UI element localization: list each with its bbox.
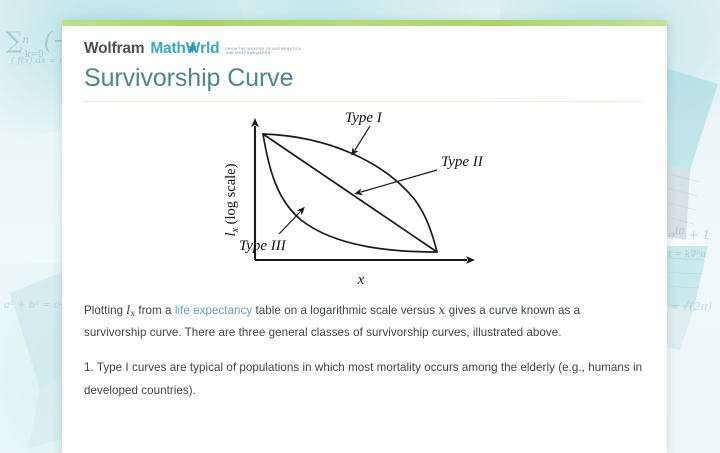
logo-wolfram-text: Wolfram: [84, 41, 144, 57]
life-expectancy-link[interactable]: life expectancy: [175, 304, 252, 317]
y-axis-label-rest: (log scale): [223, 163, 239, 228]
paragraph-type-1: 1. Type I curves are typical of populati…: [84, 357, 645, 402]
survivorship-curve-svg: Type I Type II Type III lx (log scale) x: [215, 108, 515, 293]
mathworld-logo[interactable]: WolframMathW rld FROM THE MAKERS OF MATH…: [84, 38, 645, 56]
card-header-area: WolframMathW rld FROM THE MAKERS OF MATH…: [62, 26, 667, 293]
article-body: Plotting lx from a life expectancy table…: [62, 299, 667, 403]
type-1-label: Type I: [345, 110, 383, 126]
logo-spiky-o-icon: W: [186, 41, 200, 57]
type-2-curve: [263, 134, 437, 252]
page-root: ∑nk=0(−1)k ∫ f(x) dx = π a² + b² = c² ei…: [0, 0, 720, 453]
watermark-formula-right-upper: eiπ + 1: [668, 226, 710, 242]
y-axis-label: lx (log scale): [223, 163, 241, 236]
watermark-formula-small: ∫ f(x) dx = π: [10, 56, 65, 65]
survivorship-curve-figure: Type I Type II Type III lx (log scale) x: [84, 108, 645, 293]
p1-variable-lx: lx: [126, 303, 135, 317]
page-title: Survivorship Curve: [84, 65, 645, 93]
type-3-leader: [279, 212, 300, 234]
type-1-leader: [355, 126, 370, 150]
logo-world-w: W: [186, 40, 200, 57]
logo-math-word: Math: [150, 40, 185, 57]
type-3-label: Type III: [239, 238, 287, 254]
type-2-leader: [361, 170, 437, 192]
logo-world-rest: rld: [200, 40, 219, 57]
title-divider: [84, 101, 645, 102]
x-axis-label: x: [356, 272, 364, 288]
type-2-label: Type II: [441, 154, 484, 170]
p1-text-b: from a: [135, 304, 175, 317]
content-card: WolframMathW rld FROM THE MAKERS OF MATH…: [62, 20, 667, 453]
logo-tagline-line2: AND WOLFRAM|ALPHA: [225, 51, 270, 55]
logo-mathworld-text: MathW rld: [150, 41, 219, 57]
p1-text-c: table on a logarithmic scale versus: [252, 304, 438, 317]
watermark-formula-left-lower: a² + b² = c²: [4, 300, 63, 311]
logo-tagline: FROM THE MAKERS OF MATHEMATICA AND WOLFR…: [225, 47, 301, 55]
svg-text:lx (log scale): lx (log scale): [223, 163, 241, 236]
p1-text-a: Plotting: [84, 304, 126, 317]
paragraph-intro: Plotting lx from a life expectancy table…: [84, 299, 645, 346]
